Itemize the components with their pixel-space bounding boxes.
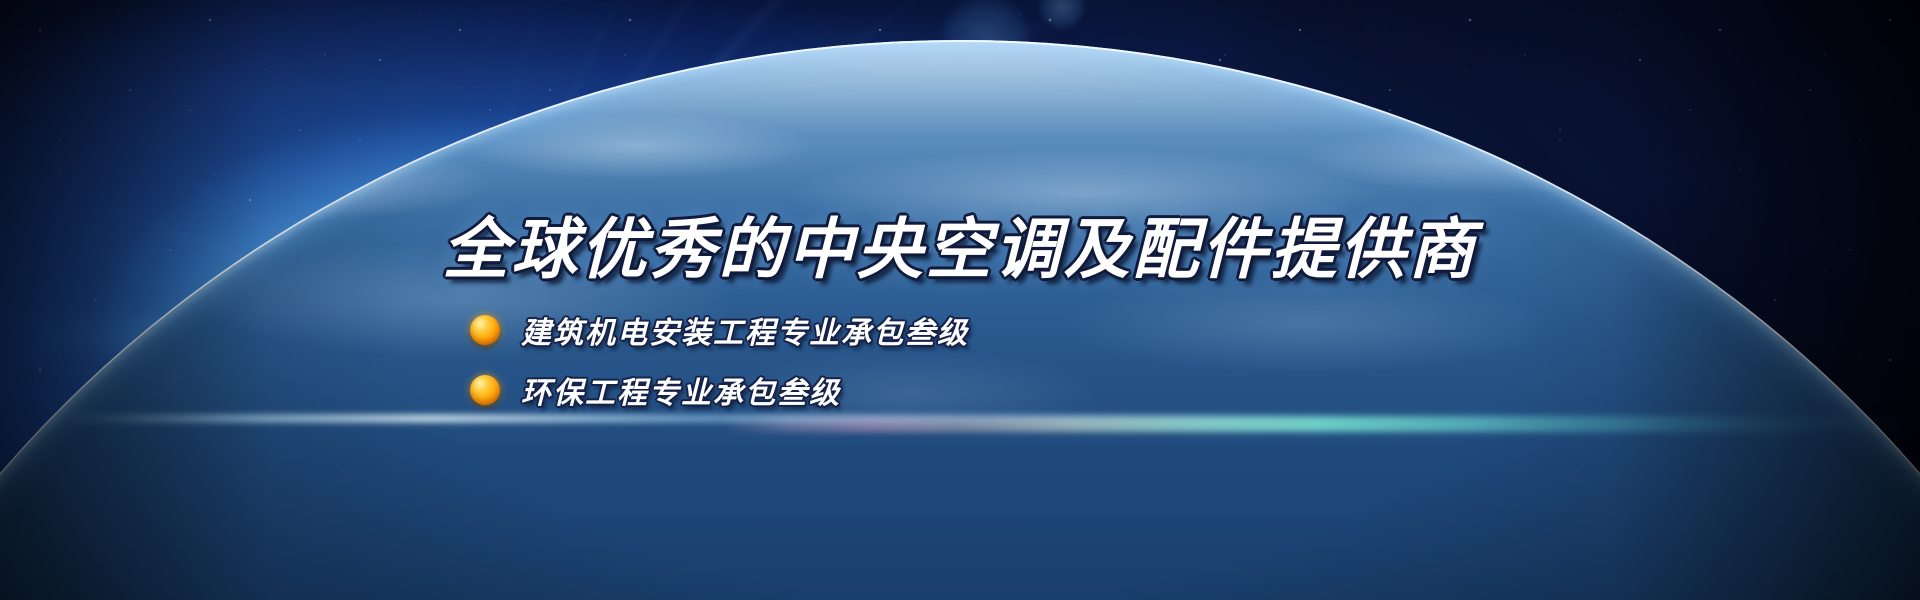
bullet-label: 建筑机电安装工程专业承包叁级 [521, 308, 969, 352]
list-item: 环保工程专业承包叁级 [470, 368, 841, 412]
bullet-label: 环保工程专业承包叁级 [521, 368, 841, 412]
list-item: 建筑机电安装工程专业承包叁级 [470, 308, 969, 352]
orange-bullet-icon [470, 375, 500, 405]
banner-content: 全球优秀的中央空调及配件提供商 建筑机电安装工程专业承包叁级 环保工程专业承包叁… [0, 0, 1920, 600]
banner-bullet-list: 建筑机电安装工程专业承包叁级 环保工程专业承包叁级 [0, 308, 1920, 412]
orange-bullet-icon [470, 315, 500, 345]
banner-headline: 全球优秀的中央空调及配件提供商 [0, 196, 1920, 292]
hero-banner: 全球优秀的中央空调及配件提供商 建筑机电安装工程专业承包叁级 环保工程专业承包叁… [0, 0, 1920, 600]
